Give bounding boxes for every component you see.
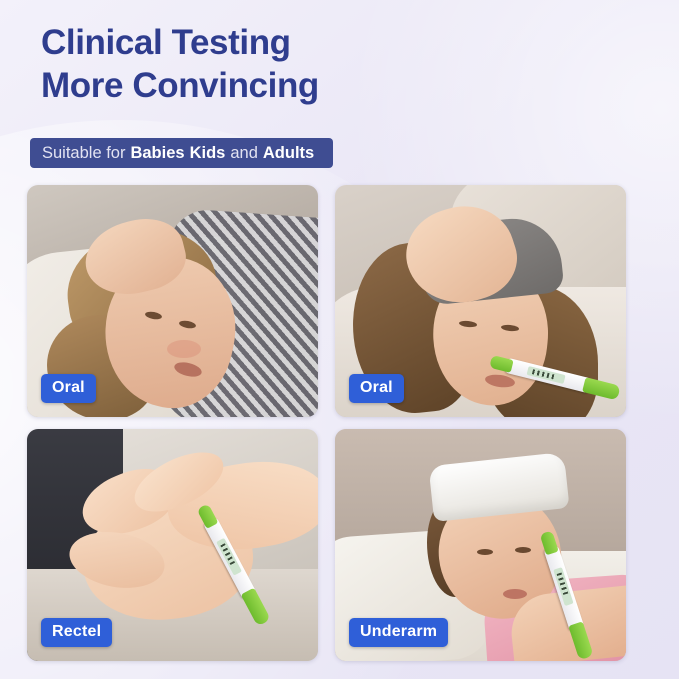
card-oral-child: Oral — [27, 185, 318, 417]
suitability-banner: Suitable for Babies Kids and Adults — [30, 138, 333, 168]
suitability-adults: Adults — [263, 144, 314, 163]
eye-right-shape — [515, 547, 531, 553]
page-title: Clinical Testing More Convincing — [41, 22, 319, 107]
suitability-babies: Babies — [130, 144, 184, 163]
photo-grid: Oral Oral — [27, 185, 652, 661]
product-infographic: Clinical Testing More Convincing Suitabl… — [0, 0, 679, 679]
card-tag-underarm: Underarm — [349, 618, 448, 647]
eye-left-shape — [477, 549, 493, 555]
mouth-shape — [503, 589, 527, 599]
card-oral-teen: Oral — [335, 185, 626, 417]
card-tag-rectal: Rectel — [41, 618, 112, 647]
cheek-shape — [167, 340, 201, 358]
suitability-kids: Kids — [190, 144, 226, 163]
card-tag-oral-child: Oral — [41, 374, 96, 403]
suitability-prefix: Suitable for — [42, 144, 125, 163]
card-tag-oral-teen: Oral — [349, 374, 404, 403]
headline-line-2: More Convincing — [41, 65, 319, 108]
card-rectal-baby: Rectel — [27, 429, 318, 661]
suitability-and: and — [230, 144, 258, 163]
card-underarm-girl: Underarm — [335, 429, 626, 661]
headline-line-1: Clinical Testing — [41, 23, 291, 62]
